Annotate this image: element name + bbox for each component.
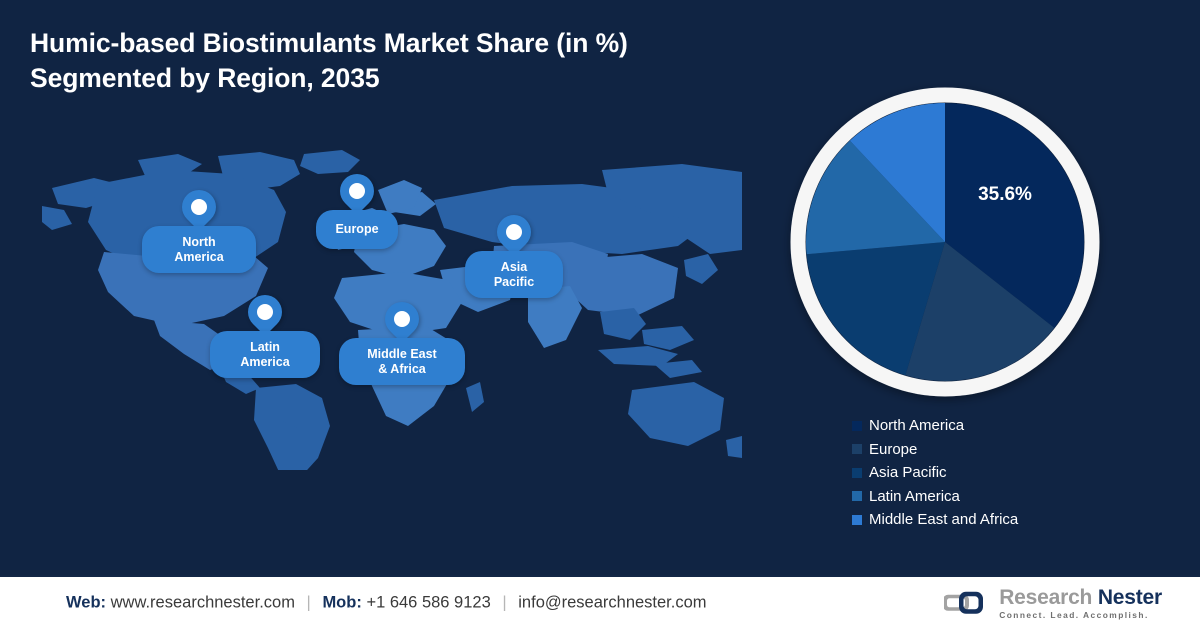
legend-swatch-icon [852,491,862,501]
email-value[interactable]: info@researchnester.com [518,593,706,611]
web-value[interactable]: www.researchnester.com [111,593,295,611]
pie-chart-svg [790,87,1100,397]
legend-label: North America [869,418,964,433]
legend-swatch-icon [852,515,862,525]
world-map: North America Europe Asia Pacific Lati [42,150,742,470]
legend-item[interactable]: North America [852,414,1112,438]
web-label: Web: [66,593,106,611]
logo-wordmark: Research Nester Connect. Lead. Accomplis… [999,586,1162,618]
legend-item[interactable]: Asia Pacific [852,461,1112,485]
title-line-2: Segmented by Region, 2035 [30,61,790,96]
pie-chart: 35.6% [790,87,1100,397]
mob-value[interactable]: +1 646 586 9123 [366,593,490,611]
map-marker-label: Asia Pacific [465,251,563,298]
footer-contact-info: Web: www.researchnester.com | Mob: +1 64… [66,593,707,612]
map-marker-label: Middle East & Africa [339,338,465,385]
legend-swatch-icon [852,421,862,431]
map-marker-label: Latin America [210,331,320,378]
map-marker-label: North America [142,226,256,273]
infographic-canvas: Humic-based Biostimulants Market Share (… [0,0,1200,628]
logo-secondary-text: Nester [1098,585,1162,608]
pie-slices [806,103,1084,381]
legend-item[interactable]: Latin America [852,485,1112,509]
mob-label: Mob: [322,593,361,611]
legend-item[interactable]: Europe [852,438,1112,462]
footer-separator: | [502,593,506,611]
legend-swatch-icon [852,444,862,454]
logo-primary-text: Research [999,585,1092,608]
title-line-1: Humic-based Biostimulants Market Share (… [30,26,790,61]
legend-label: Europe [869,442,917,457]
legend-item[interactable]: Middle East and Africa [852,508,1112,532]
legend-swatch-icon [852,468,862,478]
research-nester-logo[interactable]: Research Nester Connect. Lead. Accomplis… [944,586,1162,618]
map-marker-label: Europe [316,210,398,249]
footer-separator: | [307,593,311,611]
legend-label: Asia Pacific [869,465,947,480]
legend-label: Middle East and Africa [869,512,1018,527]
page-title: Humic-based Biostimulants Market Share (… [30,26,790,96]
logo-tagline: Connect. Lead. Accomplish. [999,610,1162,618]
chain-link-logo-icon [944,589,990,617]
chart-legend: North America Europe Asia Pacific Latin … [852,414,1112,532]
pie-slice-value-label: 35.6% [945,184,1065,206]
footer-bar: Web: www.researchnester.com | Mob: +1 64… [0,575,1200,628]
legend-label: Latin America [869,489,960,504]
